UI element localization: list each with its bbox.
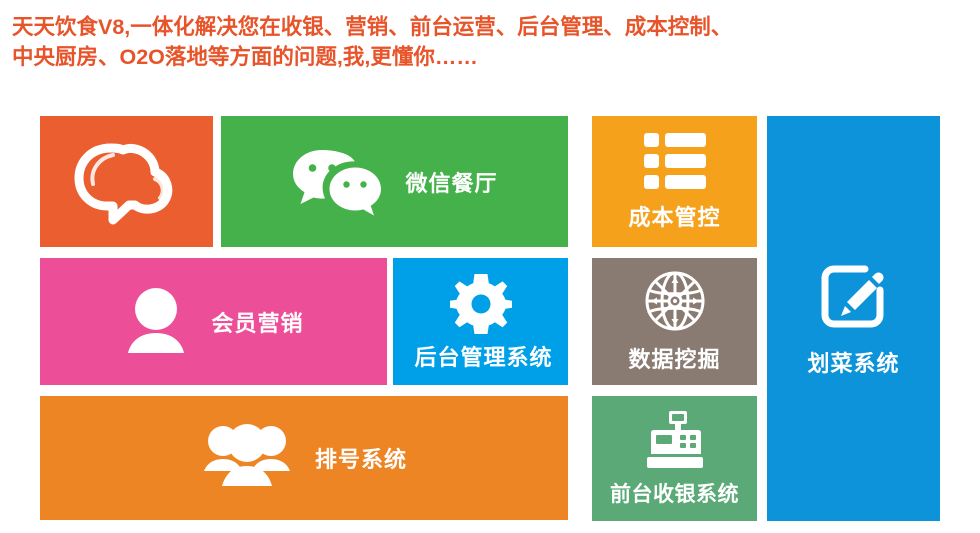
edit-pencil-square-icon xyxy=(817,260,889,332)
tile-label-member: 会员营销 xyxy=(211,306,303,338)
user-person-icon xyxy=(123,287,189,357)
tile-backend-management[interactable]: 后台管理系统 xyxy=(393,258,568,385)
people-group-icon xyxy=(201,422,293,494)
tile-label-data: 数据挖掘 xyxy=(628,342,720,374)
tile-data-mining[interactable]: 数据挖掘 xyxy=(592,258,757,385)
tile-label-dish: 划菜系统 xyxy=(807,346,899,378)
tile-cashier-system[interactable]: 前台收银系统 xyxy=(592,396,757,521)
tile-label-cashier: 前台收银系统 xyxy=(610,478,739,508)
wechat-bubbles-icon xyxy=(291,146,383,218)
tile-member-marketing[interactable]: 会员营销 xyxy=(40,258,387,385)
tile-brand[interactable] xyxy=(40,116,213,247)
globe-network-icon xyxy=(644,270,706,332)
tile-label-backend: 后台管理系统 xyxy=(414,340,552,372)
tile-label-wechat: 微信餐厅 xyxy=(405,166,497,198)
gear-icon xyxy=(450,272,512,334)
tile-label-queue: 排号系统 xyxy=(315,442,407,474)
tile-wechat-restaurant[interactable]: 微信餐厅 xyxy=(221,116,568,247)
tile-queue-system[interactable]: 排号系统 xyxy=(40,396,568,520)
tile-dish-system[interactable]: 划菜系统 xyxy=(767,116,940,521)
chef-hat-speech-bubble-icon xyxy=(73,134,181,230)
tile-cost-control[interactable]: 成本管控 xyxy=(592,116,757,247)
list-icon xyxy=(643,132,707,190)
tile-board: 微信餐厅 成本管控 xyxy=(0,0,980,533)
tile-label-cost: 成本管控 xyxy=(628,200,720,232)
cash-register-icon xyxy=(642,410,708,470)
